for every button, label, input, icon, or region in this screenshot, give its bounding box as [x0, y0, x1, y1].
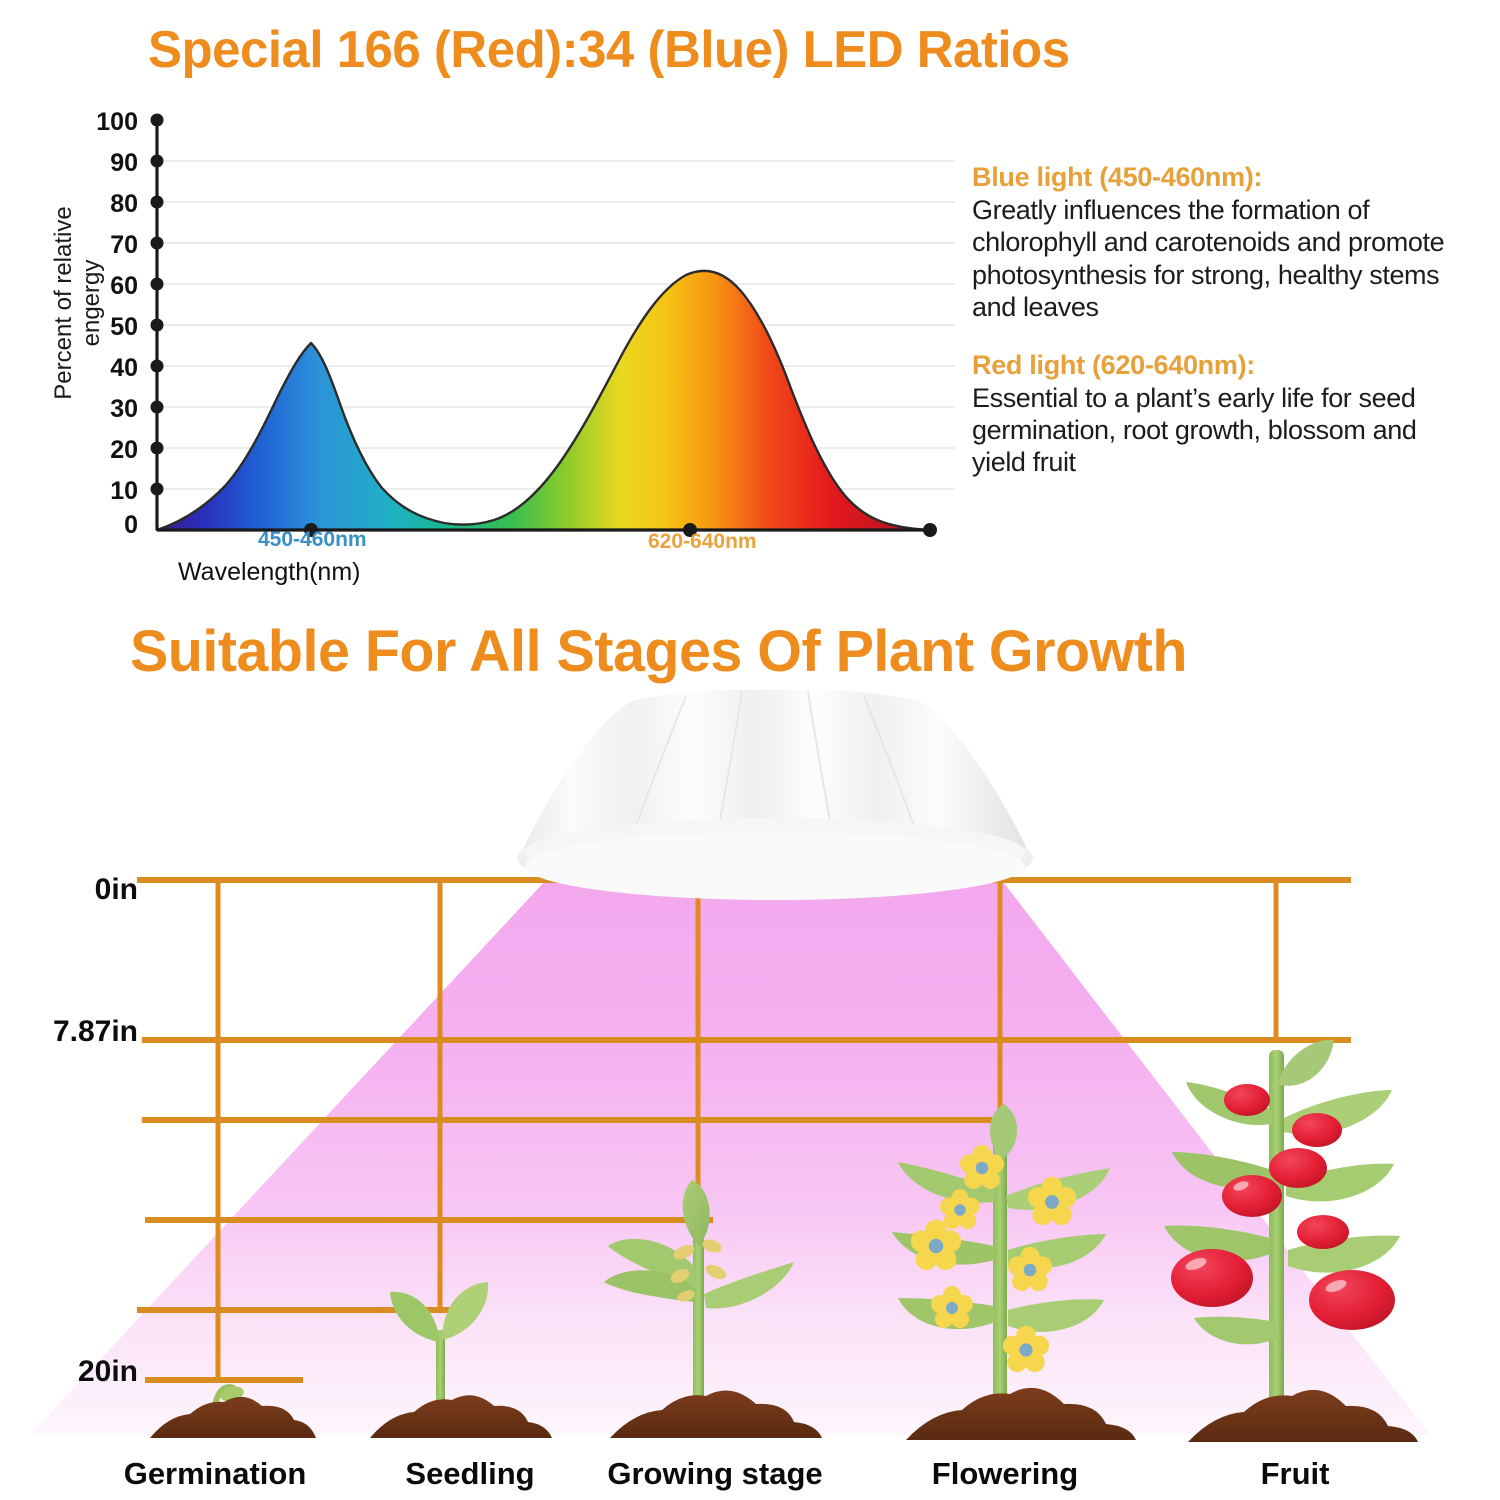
x-axis-title: Wavelength(nm) — [178, 558, 360, 587]
spectrum-plot — [0, 100, 960, 570]
page-title-stages: Suitable For All Stages Of Plant Growth — [130, 618, 1187, 685]
spectrum-chart: Percent of relative engergy 100 90 80 70… — [0, 100, 960, 600]
stage-label-germination: Germination — [100, 1456, 330, 1492]
spectrum-info-panel: Blue light (450-460nm): Greatly influenc… — [972, 162, 1472, 479]
stage-label-fruit: Fruit — [1205, 1456, 1385, 1492]
red-light-block: Red light (620-640nm): Essential to a pl… — [972, 350, 1472, 479]
distance-label-787in: 7.87in — [8, 1015, 138, 1049]
peak-label-blue: 450-460nm — [258, 528, 367, 552]
peak-label-red: 620-640nm — [648, 530, 757, 554]
stage-label-seedling: Seedling — [370, 1456, 570, 1492]
growth-stages-diagram: 0in 7.87in 20in Germination Seedling Gro… — [0, 690, 1500, 1500]
distance-label-0in: 0in — [28, 873, 138, 907]
page-title-spectrum: Special 166 (Red):34 (Blue) LED Ratios — [148, 20, 1070, 80]
spectrum-curve-fill — [157, 271, 930, 530]
stage-label-growing-stage: Growing stage — [590, 1456, 840, 1492]
light-cone — [30, 865, 1430, 1435]
stage-label-flowering: Flowering — [905, 1456, 1105, 1492]
red-light-heading: Red light (620-640nm): — [972, 350, 1472, 381]
red-light-body: Essential to a plant’s early life for se… — [972, 382, 1472, 479]
blue-light-heading: Blue light (450-460nm): — [972, 162, 1472, 193]
distance-label-20in: 20in — [28, 1355, 138, 1389]
lamp-reflector — [490, 690, 1060, 920]
blue-light-body: Greatly influences the formation of chlo… — [972, 194, 1472, 324]
blue-light-block: Blue light (450-460nm): Greatly influenc… — [972, 162, 1472, 324]
infographic-root: Special 166 (Red):34 (Blue) LED Ratios P… — [0, 0, 1500, 1500]
